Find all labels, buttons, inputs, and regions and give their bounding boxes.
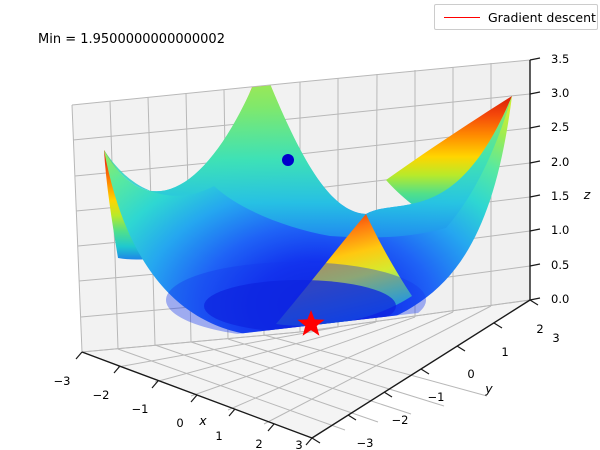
legend-entry-label: Gradient descent — [488, 10, 596, 25]
y-tick-label: −3 — [357, 436, 374, 450]
x-tick-label: 3 — [295, 438, 302, 450]
z-axis-ticks — [530, 58, 540, 300]
z-tick-label: 1.0 — [551, 223, 569, 237]
x-tick-label: −2 — [93, 388, 110, 402]
y-tick-label: 0 — [467, 367, 474, 381]
y-tick-label: −1 — [428, 390, 445, 404]
z-axis-label: z — [583, 187, 591, 202]
y-tick-label: 1 — [501, 345, 508, 359]
x-tick-label: −1 — [132, 402, 149, 416]
x-tick-label: 2 — [255, 437, 262, 450]
z-tick-label: 3.0 — [551, 86, 569, 100]
start-point-marker[interactable] — [282, 154, 294, 166]
legend-line-swatch — [444, 17, 480, 18]
legend[interactable]: Gradient descent — [434, 4, 598, 30]
y-tick-label: 3 — [552, 331, 559, 345]
x-tick-label: −3 — [54, 374, 71, 388]
z-tick-label: 2.0 — [551, 155, 569, 169]
x-tick-label: 0 — [176, 416, 183, 430]
y-axis-label: y — [484, 381, 493, 396]
z-tick-label: 0.0 — [551, 292, 569, 306]
z-tick-label: 1.5 — [551, 189, 569, 203]
x-axis-label: x — [198, 413, 207, 428]
surface-plot-figure: −3 −2 −1 0 1 2 3 −3 −2 −1 0 1 2 3 0.0 0.… — [0, 0, 600, 450]
y-tick-label: −2 — [392, 413, 409, 427]
x-tick-label: 1 — [215, 429, 222, 443]
z-tick-label: 2.5 — [551, 120, 569, 134]
z-tick-label: 3.5 — [551, 52, 569, 66]
plot-title: Min = 1.9500000000000002 — [38, 32, 225, 47]
y-tick-label: 2 — [536, 322, 543, 336]
z-tick-labels: 0.0 0.5 1.0 1.5 2.0 2.5 3.0 3.5 — [551, 52, 569, 306]
z-tick-label: 0.5 — [551, 258, 569, 272]
